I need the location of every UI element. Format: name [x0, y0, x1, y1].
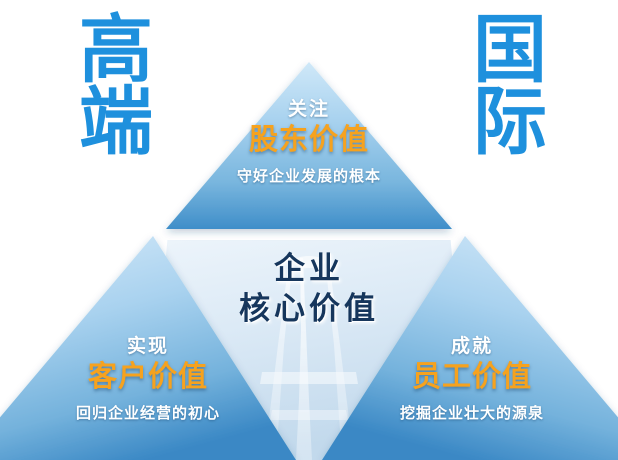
- triangle-top[interactable]: [166, 62, 452, 229]
- pyramid-graphic: [0, 0, 618, 460]
- infographic-canvas: 高 端 国 际 关注 股东价值 守好企业发展的根本 企业 核心价值 实现 客户价…: [0, 0, 618, 460]
